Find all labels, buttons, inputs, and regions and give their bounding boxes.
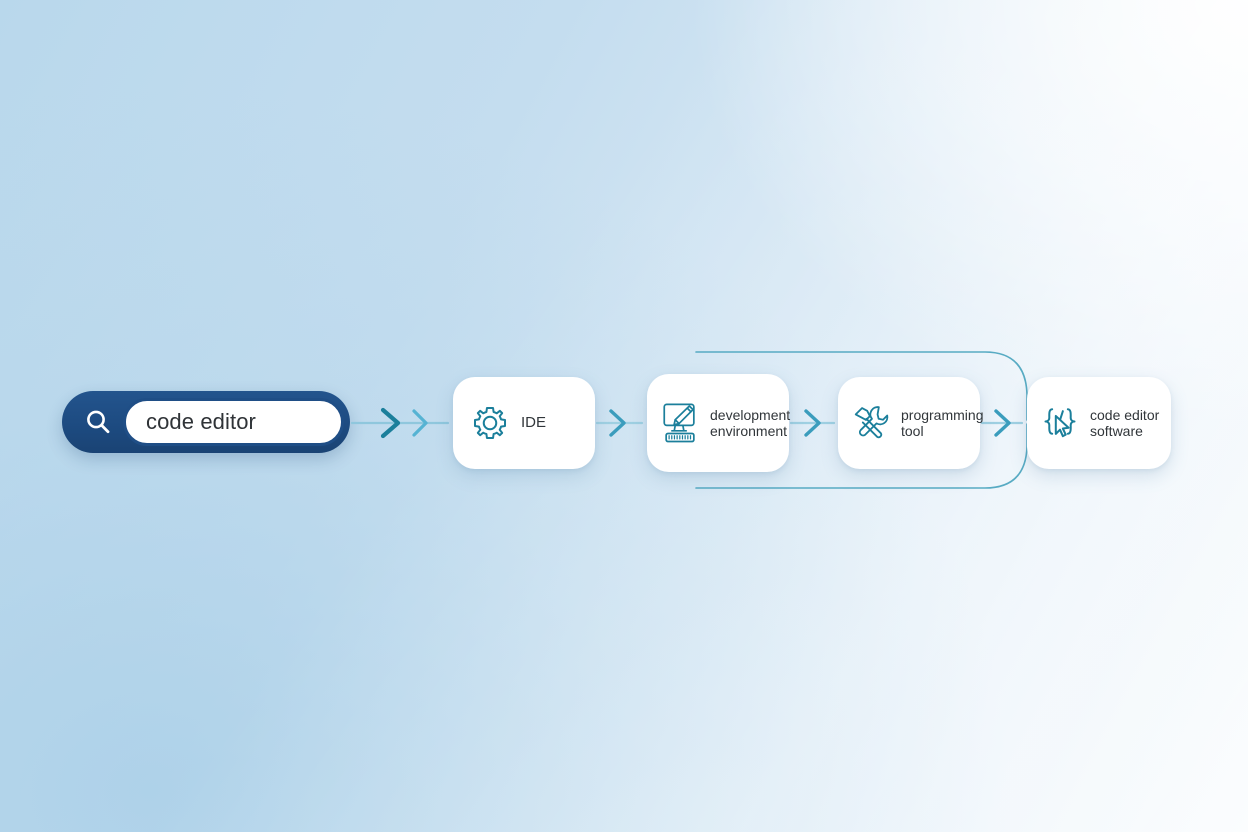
search-box[interactable]: code editor <box>62 391 350 453</box>
arrow-search-to-ide[interactable] <box>370 405 440 441</box>
monitor-pencil-icon <box>659 401 701 445</box>
search-icon[interactable] <box>75 399 121 445</box>
code-brackets-cursor-icon <box>1039 402 1081 444</box>
card-ide[interactable]: IDE <box>453 377 595 469</box>
card-code-editor-software[interactable]: code editor software <box>1027 377 1171 469</box>
card-development-environment[interactable]: development environment <box>647 374 789 472</box>
hammer-wrench-icon <box>850 402 892 444</box>
card-development-environment-label: development environment <box>710 407 790 439</box>
search-input[interactable]: code editor <box>123 398 344 446</box>
card-programming-tool-label: programming tool <box>901 407 983 439</box>
card-code-editor-software-label: code editor software <box>1090 407 1159 439</box>
search-input-value: code editor <box>146 409 256 435</box>
gear-icon <box>471 404 509 442</box>
card-ide-label: IDE <box>521 414 546 431</box>
arrow-ide-to-devenv[interactable] <box>600 405 640 441</box>
arrow-tool-to-software[interactable] <box>985 405 1025 441</box>
arrow-devenv-to-tool[interactable] <box>795 405 835 441</box>
diagram-canvas: code editor IDE <box>0 0 1248 832</box>
card-programming-tool[interactable]: programming tool <box>838 377 980 469</box>
